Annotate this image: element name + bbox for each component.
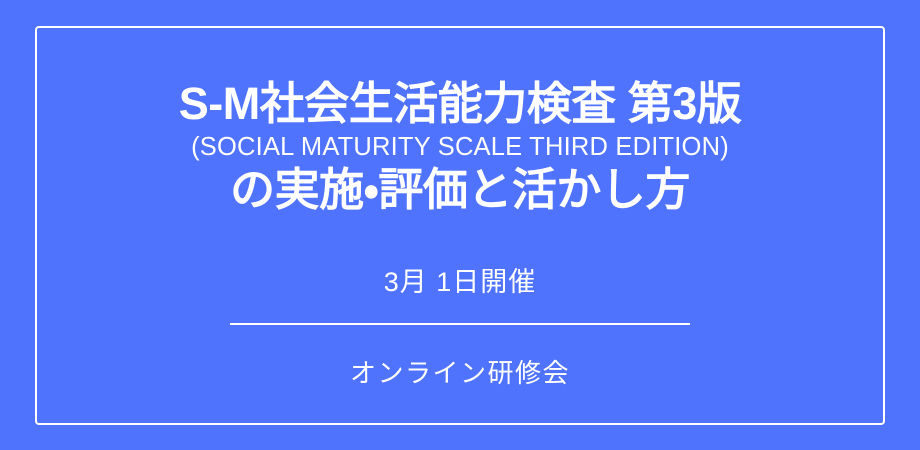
event-format-label: オンライン研修会 xyxy=(0,358,920,389)
page-title-line-2: の実施・評価と活かし方 xyxy=(0,165,920,215)
horizontal-rule xyxy=(230,323,690,325)
slide-content: S-M社会生活能力検査 第3版 (SOCIAL MATURITY SCALE T… xyxy=(0,0,920,450)
seminar-title-slide: S-M社会生活能力検査 第3版 (SOCIAL MATURITY SCALE T… xyxy=(0,0,920,450)
event-date: 3月 1日開催 xyxy=(0,266,920,298)
page-title-subtitle-english: (SOCIAL MATURITY SCALE THIRD EDITION) xyxy=(0,131,920,164)
title-block: S-M社会生活能力検査 第3版 (SOCIAL MATURITY SCALE T… xyxy=(0,80,920,215)
page-title-line-1: S-M社会生活能力検査 第3版 xyxy=(0,80,920,129)
